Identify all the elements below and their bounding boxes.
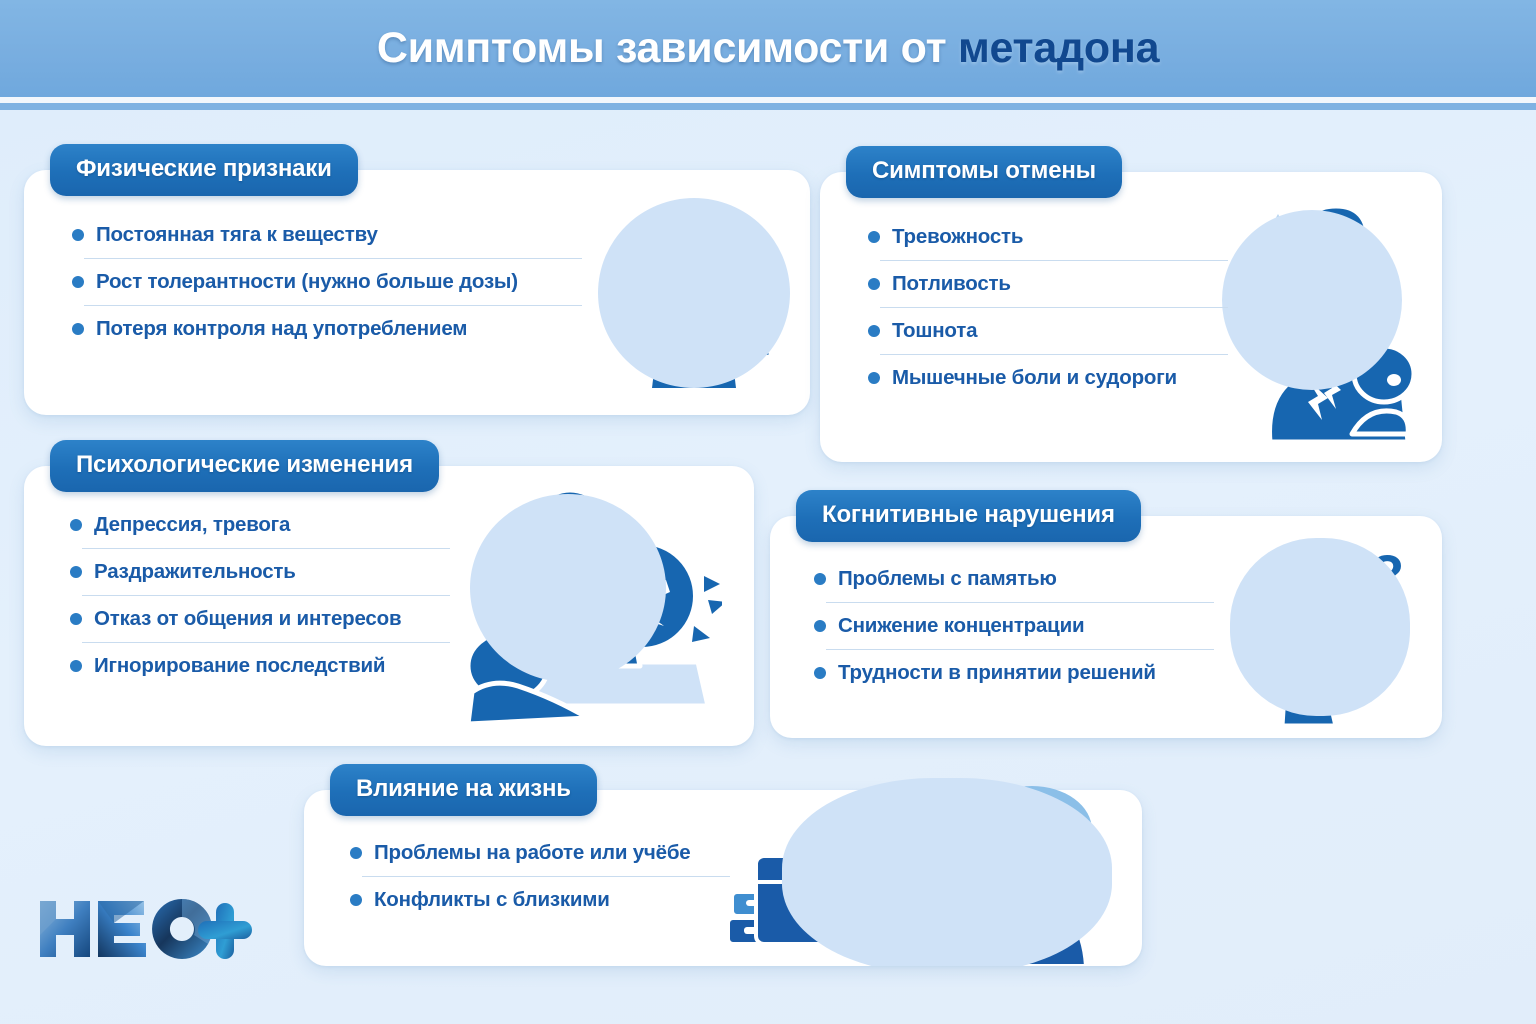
bullet-dot-icon <box>350 847 362 859</box>
card-cognitive-title-pill: Когнитивные нарушения <box>796 490 1141 542</box>
card-life-impact-list: Проблемы на работе или учёбе Конфликты с… <box>350 836 730 917</box>
list-item: Раздражительность <box>70 555 450 589</box>
bullet-dot-icon <box>814 667 826 679</box>
page-title-main: Симптомы зависимости от <box>377 24 958 72</box>
list-item-label: Тревожность <box>892 225 1023 249</box>
card-cognitive: Когнитивные нарушения <box>770 516 1442 738</box>
card-psychological: Психологические изменения <box>24 466 754 746</box>
card-life-impact-title: Влияние на жизнь <box>356 775 571 803</box>
list-item-label: Игнорирование последствий <box>94 654 385 678</box>
bullet-dot-icon <box>868 372 880 384</box>
list-divider <box>880 260 1228 261</box>
bullet-dot-icon <box>868 325 880 337</box>
list-item: Проблемы с памятью <box>814 562 1214 596</box>
bullet-dot-icon <box>868 231 880 243</box>
card-psychological-title: Психологические изменения <box>76 451 413 479</box>
list-item: Тошнота <box>868 314 1228 348</box>
list-item-label: Потливость <box>892 272 1011 296</box>
list-divider <box>82 642 450 643</box>
list-divider <box>826 602 1214 603</box>
card-withdrawal-list: Тревожность Потливость Тошнота Мышечные … <box>868 220 1228 395</box>
stressed-person-with-syringe-icon <box>590 188 798 396</box>
list-divider <box>82 595 450 596</box>
card-life-impact: Влияние на жизнь <box>304 790 1142 966</box>
card-physical: Физические признаки <box>24 170 810 415</box>
sweating-and-cramping-person-icon <box>1212 188 1442 450</box>
list-item-label: Снижение концентрации <box>838 614 1084 638</box>
header-divider-blue <box>0 103 1536 110</box>
bullet-dot-icon <box>814 620 826 632</box>
bullet-dot-icon <box>70 566 82 578</box>
list-item: Снижение концентрации <box>814 609 1214 643</box>
head-with-brain-and-question-marks-icon: ? ? <box>1222 530 1430 726</box>
list-item: Постоянная тяга к веществу <box>72 218 582 252</box>
neo-plus-logo <box>36 893 266 965</box>
list-item-label: Конфликты с близкими <box>374 888 610 912</box>
list-item-label: Депрессия, тревога <box>94 513 290 537</box>
card-withdrawal-title-pill: Симптомы отмены <box>846 146 1122 198</box>
list-item-label: Отказ от общения и интересов <box>94 607 401 631</box>
card-withdrawal: Симптомы отмены <box>820 172 1442 462</box>
list-item-label: Рост толерантности (нужно больше дозы) <box>96 270 518 294</box>
list-item: Трудности в принятии решений <box>814 656 1214 690</box>
card-physical-title-pill: Физические признаки <box>50 144 358 196</box>
page-header: Симптомы зависимости от метадона <box>0 0 1536 97</box>
bullet-dot-icon <box>70 519 82 531</box>
card-physical-list: Постоянная тяга к веществу Рост толерант… <box>72 218 582 346</box>
list-item-label: Проблемы с памятью <box>838 567 1057 591</box>
list-divider <box>82 548 450 549</box>
list-item: Потеря контроля над употреблением <box>72 312 582 346</box>
card-psychological-title-pill: Психологические изменения <box>50 440 439 492</box>
list-item: Потливость <box>868 267 1228 301</box>
bullet-dot-icon <box>72 229 84 241</box>
list-item-label: Мышечные боли и судороги <box>892 366 1177 390</box>
card-physical-title: Физические признаки <box>76 155 332 183</box>
card-withdrawal-title: Симптомы отмены <box>872 157 1096 185</box>
list-item: Тревожность <box>868 220 1228 254</box>
bullet-dot-icon <box>70 613 82 625</box>
page-title: Симптомы зависимости от метадона <box>377 24 1159 73</box>
bullet-dot-icon <box>72 276 84 288</box>
bullet-dot-icon <box>814 573 826 585</box>
list-item-label: Проблемы на работе или учёбе <box>374 841 690 865</box>
list-divider <box>880 307 1228 308</box>
list-item: Отказ от общения и интересов <box>70 602 450 636</box>
list-item: Конфликты с близкими <box>350 883 730 917</box>
bullet-dot-icon <box>868 278 880 290</box>
list-item: Мышечные боли и судороги <box>868 361 1228 395</box>
list-divider <box>84 305 582 306</box>
list-divider <box>362 876 730 877</box>
card-psychological-list: Депрессия, тревога Раздражительность Отк… <box>70 508 450 683</box>
list-item: Проблемы на работе или учёбе <box>350 836 730 870</box>
list-item: Депрессия, тревога <box>70 508 450 542</box>
card-life-impact-title-pill: Влияние на жизнь <box>330 764 597 816</box>
list-item-label: Трудности в принятии решений <box>838 661 1156 685</box>
bullet-dot-icon <box>72 323 84 335</box>
list-divider <box>826 649 1214 650</box>
briefcase-books-and-arguing-people-icon <box>722 772 1142 966</box>
sad-and-angry-faces-icon <box>442 480 722 732</box>
card-cognitive-title: Когнитивные нарушения <box>822 501 1115 529</box>
list-item-label: Потеря контроля над употреблением <box>96 317 467 341</box>
list-divider <box>84 258 582 259</box>
list-item-label: Тошнота <box>892 319 977 343</box>
bullet-dot-icon <box>350 894 362 906</box>
list-item-label: Раздражительность <box>94 560 296 584</box>
card-cognitive-list: Проблемы с памятью Снижение концентрации… <box>814 562 1214 690</box>
list-divider <box>880 354 1228 355</box>
bullet-dot-icon <box>70 660 82 672</box>
list-item-label: Постоянная тяга к веществу <box>96 223 378 247</box>
list-item: Игнорирование последствий <box>70 649 450 683</box>
page-title-accent: метадона <box>958 24 1159 72</box>
list-item: Рост толерантности (нужно больше дозы) <box>72 265 582 299</box>
